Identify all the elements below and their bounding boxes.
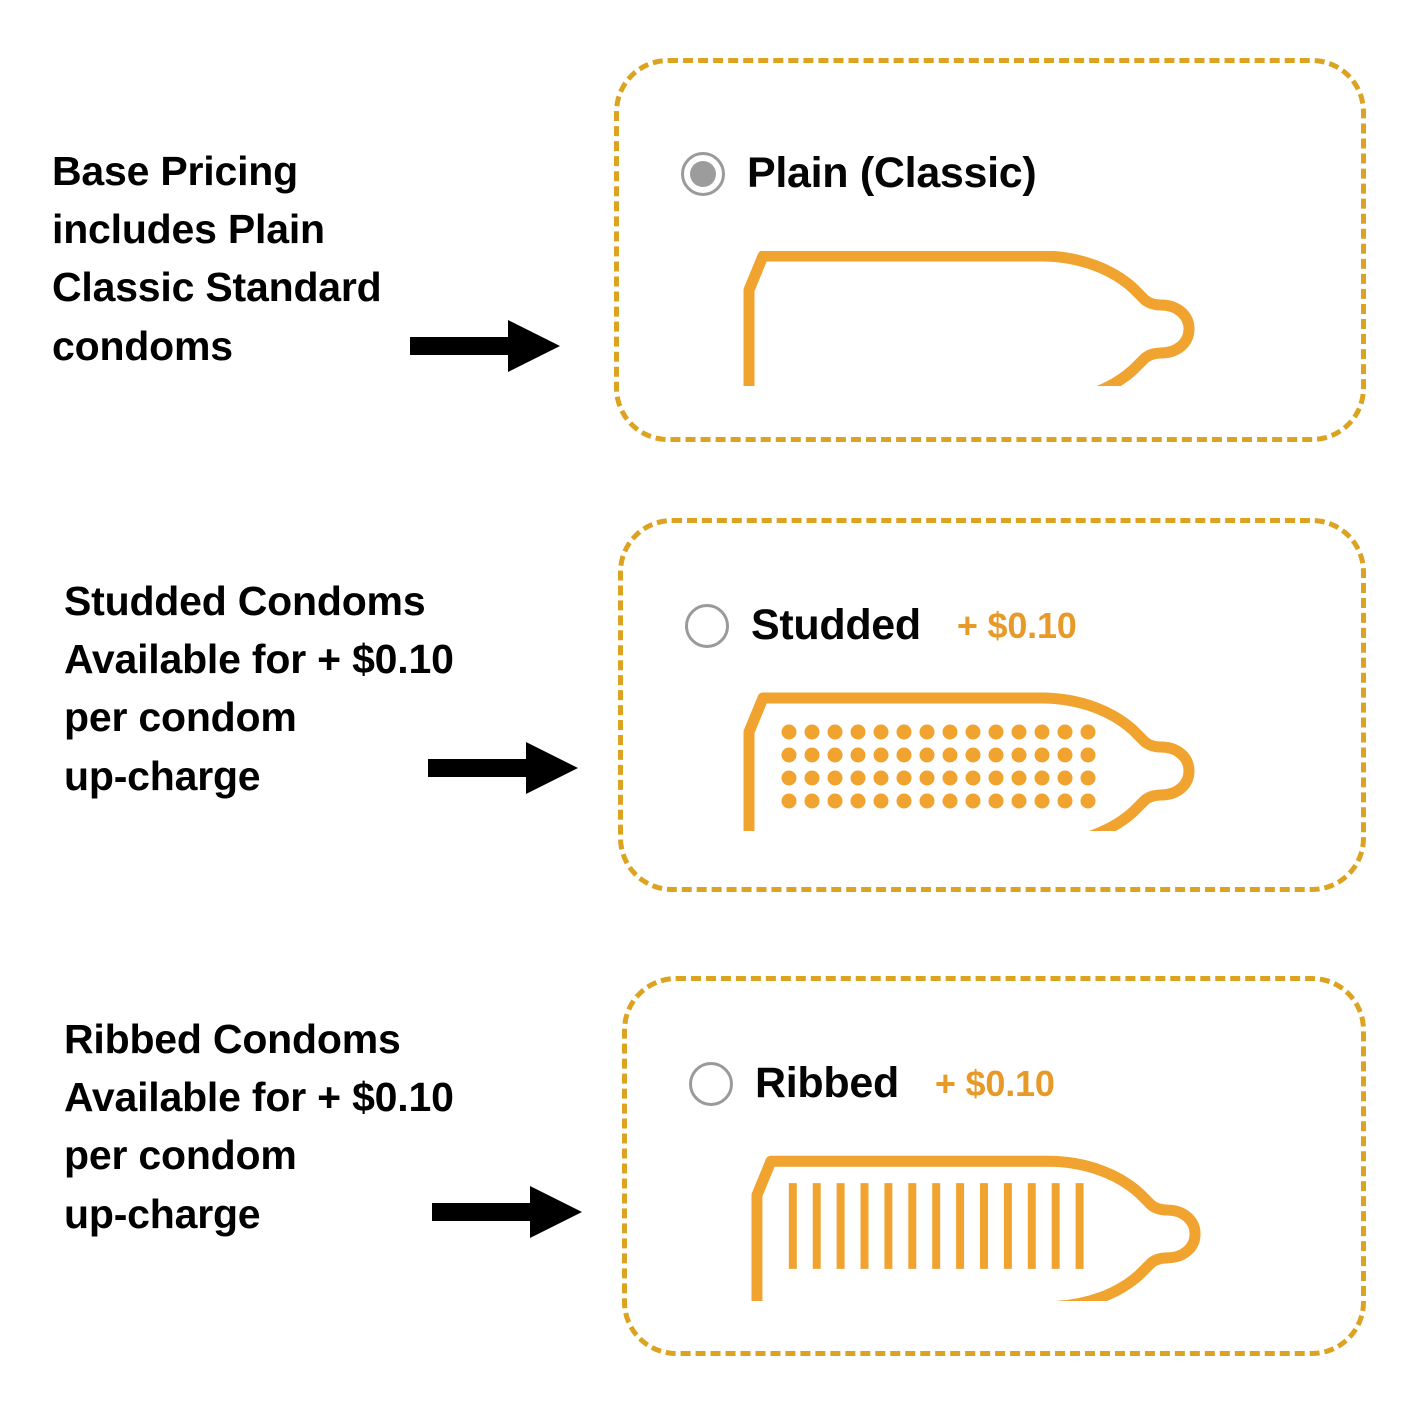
description-studded-upcharge: Studded Condoms Available for + $0.10 pe… [64,572,454,805]
arrow-right-icon [410,316,560,376]
description-ribbed-upcharge: Ribbed Condoms Available for + $0.10 per… [64,1010,454,1243]
option-card-plain[interactable]: Plain (Classic) [614,58,1366,442]
radio-unselected-icon[interactable] [689,1062,733,1106]
arrow-right-icon [428,738,578,798]
description-base-pricing: Base Pricing includes Plain Classic Stan… [52,142,382,375]
option-label-plain: Plain (Classic) [747,149,1036,198]
radio-selected-icon[interactable] [681,152,725,196]
condom-plain-icon [741,251,1211,386]
radio-unselected-icon[interactable] [685,604,729,648]
arrow-right-icon [432,1182,582,1242]
option-price-ribbed: + $0.10 [935,1063,1055,1105]
rib-lines [793,1183,1080,1269]
option-row-studded[interactable]: Studded + $0.10 [685,601,1077,650]
option-row-plain[interactable]: Plain (Classic) [681,149,1072,198]
option-price-studded: + $0.10 [957,605,1077,647]
option-label-ribbed: Ribbed [755,1059,899,1108]
condom-ribbed-icon [749,1149,1217,1301]
option-card-studded[interactable]: Studded + $0.10 [618,518,1366,892]
stud-dots [782,725,1096,809]
infographic-canvas: Base Pricing includes Plain Classic Stan… [0,0,1417,1415]
option-label-studded: Studded [751,601,921,650]
condom-studded-icon [741,691,1211,831]
option-card-ribbed[interactable]: Ribbed + $0.10 [622,976,1366,1356]
option-row-ribbed[interactable]: Ribbed + $0.10 [689,1059,1055,1108]
